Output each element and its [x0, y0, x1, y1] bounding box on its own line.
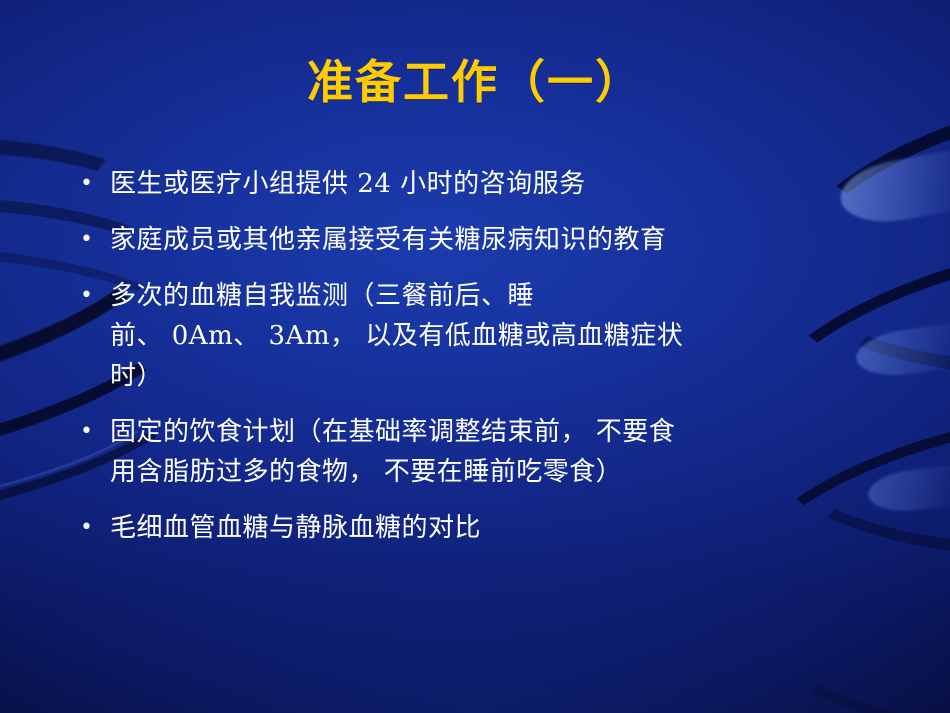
decorative-bottom-glow [0, 563, 950, 713]
list-item: • 固定的饮食计划（在基础率调整结束前， 不要食 用含脂肪过多的食物， 不要在睡… [74, 412, 914, 492]
list-item-label: 固定的饮食计划（在基础率调整结束前， 不要食 用含脂肪过多的食物， 不要在睡前吃… [110, 412, 914, 492]
list-item-label: 家庭成员或其他亲属接受有关糖尿病知识的教育 [110, 220, 914, 260]
bullet-point-icon: • [74, 220, 110, 260]
presentation-slide: 准备工作（一） • 医生或医疗小组提供 24 小时的咨询服务 • 家庭成员或其他… [0, 0, 950, 713]
list-item: • 多次的血糖自我监测（三餐前后、睡 前、 0Am、 3Am， 以及有低血糖或高… [74, 276, 914, 396]
list-item-label: 毛细血管血糖与静脉血糖的对比 [110, 508, 914, 548]
list-item-label: 医生或医疗小组提供 24 小时的咨询服务 [110, 164, 914, 204]
bullet-point-icon: • [74, 412, 110, 452]
list-item: • 家庭成员或其他亲属接受有关糖尿病知识的教育 [74, 220, 914, 260]
bullet-point-icon: • [74, 508, 110, 548]
bullet-point-icon: • [74, 164, 110, 204]
slide-title: 准备工作（一） [0, 56, 950, 109]
list-item-label: 多次的血糖自我监测（三餐前后、睡 前、 0Am、 3Am， 以及有低血糖或高血糖… [110, 276, 914, 396]
slide-body: • 医生或医疗小组提供 24 小时的咨询服务 • 家庭成员或其他亲属接受有关糖尿… [74, 164, 914, 564]
list-item: • 毛细血管血糖与静脉血糖的对比 [74, 508, 914, 548]
list-item: • 医生或医疗小组提供 24 小时的咨询服务 [74, 164, 914, 204]
bullet-point-icon: • [74, 276, 110, 316]
